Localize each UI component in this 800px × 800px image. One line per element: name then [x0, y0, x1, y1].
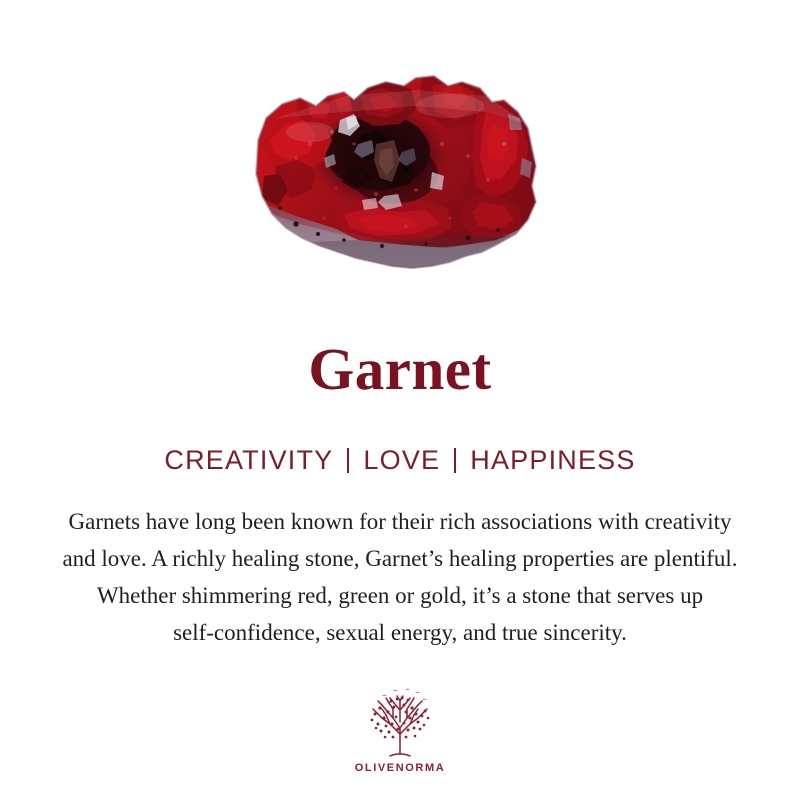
- brand-logo: OLIVENORMA: [0, 684, 800, 774]
- description-line: Whether shimmering red, green or gold, i…: [22, 577, 778, 614]
- keyword-love: LOVE: [363, 445, 440, 475]
- gemstone-info-card: Garnet CREATIVITYLOVEHAPPINESS Garnets h…: [0, 0, 800, 800]
- keyword-happiness: HAPPINESS: [470, 445, 635, 475]
- hero-image-area: [0, 0, 800, 310]
- page-title: Garnet: [0, 336, 800, 402]
- description-line: self-confidence, sexual energy, and true…: [22, 614, 778, 651]
- description-line: and love. A richly healing stone, Garnet…: [22, 540, 778, 577]
- description-paragraph: Garnets have long been known for their r…: [22, 503, 778, 651]
- tree-with-birds-icon: [360, 684, 440, 760]
- keyword-separator: [347, 448, 349, 473]
- keyword-separator: [454, 448, 456, 473]
- garnet-specimen-photo: [236, 48, 556, 288]
- keyword-creativity: CREATIVITY: [164, 445, 333, 475]
- keyword-list: CREATIVITYLOVEHAPPINESS: [0, 443, 800, 477]
- brand-name: OLIVENORMA: [0, 762, 800, 774]
- description-line: Garnets have long been known for their r…: [22, 503, 778, 540]
